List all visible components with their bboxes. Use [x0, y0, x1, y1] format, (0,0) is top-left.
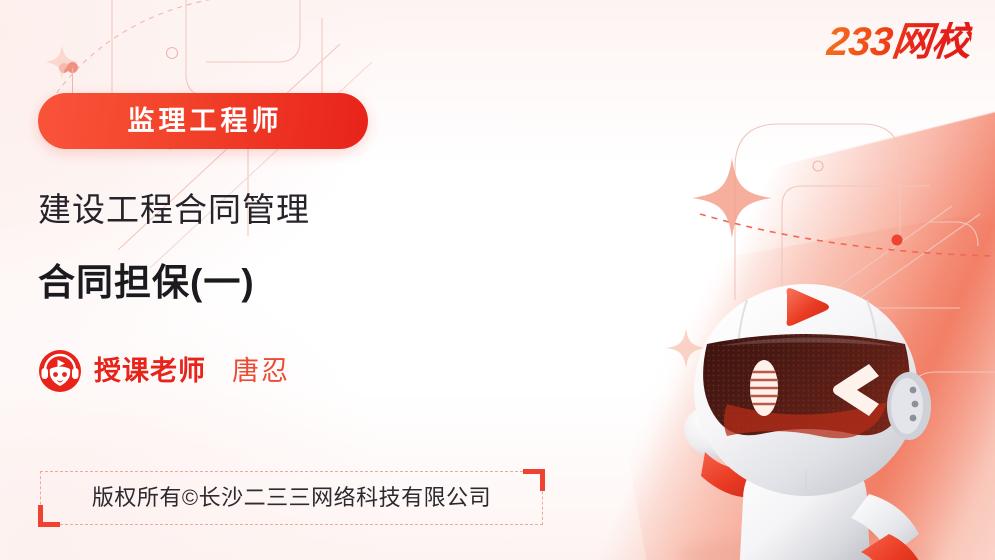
corner-bracket-top-right [523, 469, 545, 491]
corner-bracket-bottom-left [38, 505, 60, 527]
badge-accent-stem [72, 68, 73, 94]
copyright-box: 版权所有©长沙二三三网络科技有限公司 [40, 471, 543, 525]
course-subject: 建设工程合同管理 [38, 191, 310, 229]
copyright-text: 版权所有©长沙二三三网络科技有限公司 [92, 487, 491, 509]
robot-head-headphones-icon [38, 349, 82, 393]
category-badge: 监理工程师 [38, 93, 368, 149]
lesson-title: 合同担保(一) [38, 262, 255, 305]
course-cover-slide: 233网校 监理工程师 建设工程合同管理 合同担保(一) 授课老师 唐忍 版权 [0, 0, 995, 560]
brand-logo: 233网校 [825, 22, 973, 62]
teacher-row: 授课老师 唐忍 [38, 348, 290, 394]
teacher-label: 授课老师 [94, 358, 206, 385]
category-badge-label: 监理工程师 [124, 108, 283, 135]
teacher-name: 唐忍 [232, 358, 290, 385]
